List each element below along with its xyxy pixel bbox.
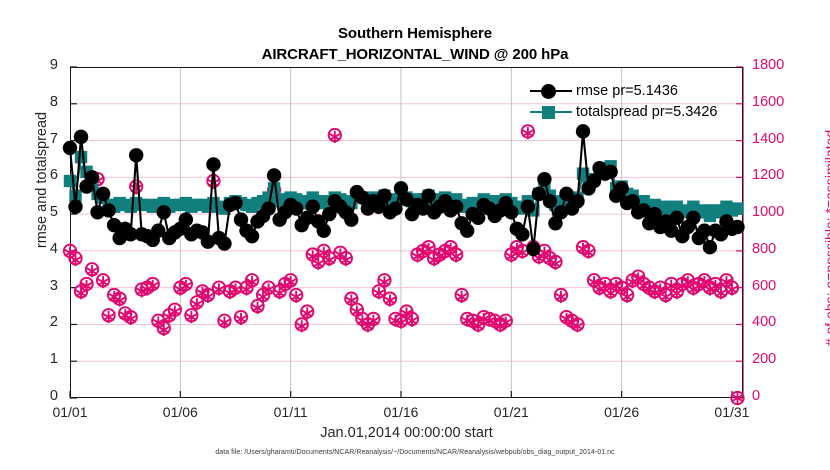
y-axis-right-tick: 1000 [752,204,812,220]
chart-title-line-2: AIRCRAFT_HORIZONTAL_WIND @ 200 hPa [0,45,830,65]
legend-label-rmse: rmse pr=5.1436 [574,83,678,99]
legend-item-rmse: rmse pr=5.1436 [528,80,717,101]
legend-label-totalspread: totalspread pr=5.3426 [574,104,717,120]
legend-marker-filled-square-icon [528,102,574,122]
y-axis-left-tick: 1 [0,351,58,367]
chart-title: Southern Hemisphere AIRCRAFT_HORIZONTAL_… [0,24,830,65]
y-axis-right-tick: 800 [752,241,812,257]
x-axis-label: Jan.01,2014 00:00:00 start [70,425,743,441]
x-axis-tick: 01/16 [366,404,436,420]
y-axis-right-tick: 1400 [752,131,812,147]
y-axis-left-tick: 0 [0,388,58,404]
legend-marker-filled-circle-icon [528,81,574,101]
legend-item-totalspread: totalspread pr=5.3426 [528,101,717,122]
chart-legend: rmse pr=5.1436 totalspread pr=5.3426 [528,80,717,122]
y-axis-right-tick: 1600 [752,94,812,110]
figure-canvas: Southern Hemisphere AIRCRAFT_HORIZONTAL_… [0,0,830,470]
x-axis-tick: 01/31 [697,404,767,420]
chart-title-line-1: Southern Hemisphere [0,24,830,44]
y-axis-right-label: # of obs: o=possible; *=assimilated [822,68,830,408]
y-axis-right-tick: 200 [752,351,812,367]
x-axis-tick: 01/01 [35,404,105,420]
x-axis-tick: 01/11 [256,404,326,420]
x-axis-tick: 01/06 [145,404,215,420]
y-axis-right-tick: 1200 [752,167,812,183]
y-axis-right-tick: 400 [752,314,812,330]
x-axis-tick: 01/21 [476,404,546,420]
data-file-caption: data file: /Users/gharamti/Documents/NCA… [0,449,830,456]
y-axis-right-tick: 600 [752,278,812,294]
x-axis-tick: 01/26 [587,404,657,420]
y-axis-left-label: rmse and totalspread [34,30,50,330]
y-axis-right-tick: 0 [752,388,812,404]
y-axis-right-tick: 1800 [752,57,812,73]
